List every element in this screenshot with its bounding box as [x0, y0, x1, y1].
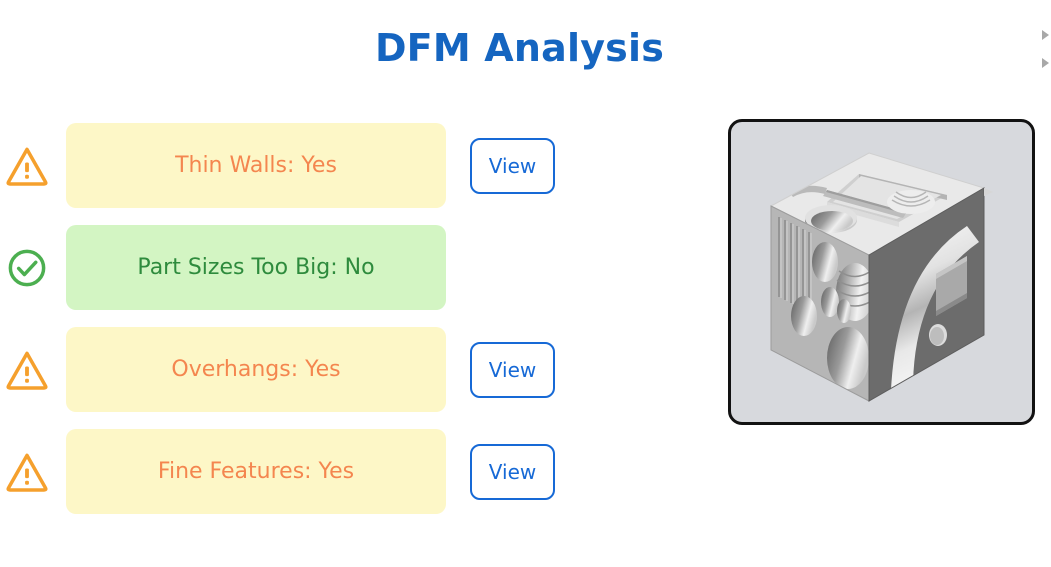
dfm-check-row: Overhangs: Yes View	[0, 327, 570, 412]
dfm-check-pill: Fine Features: Yes	[66, 429, 446, 514]
edge-stepper[interactable]	[1040, 26, 1051, 76]
dfm-check-row: Thin Walls: Yes View	[0, 123, 570, 208]
3d-part-model[interactable]	[731, 122, 1032, 422]
dfm-check-label: Fine Features: Yes	[158, 459, 354, 484]
warning-triangle-icon	[6, 145, 48, 187]
dfm-check-row: Fine Features: Yes View	[0, 429, 570, 514]
dfm-check-pill: Part Sizes Too Big: No	[66, 225, 446, 310]
caret-up-icon[interactable]	[1042, 30, 1049, 40]
check-circle-icon	[6, 247, 48, 289]
warning-triangle-icon	[6, 451, 48, 493]
page-title: DFM Analysis	[0, 26, 1039, 70]
3d-part-preview-panel[interactable]	[728, 119, 1035, 425]
dfm-check-label: Overhangs: Yes	[171, 357, 340, 382]
dfm-checks-list: Thin Walls: Yes View Part Sizes Too Big:…	[0, 123, 570, 531]
dfm-check-label: Thin Walls: Yes	[175, 153, 337, 178]
warning-triangle-icon	[6, 349, 48, 391]
view-button[interactable]: View	[470, 342, 555, 398]
caret-down-icon[interactable]	[1042, 58, 1049, 68]
view-button[interactable]: View	[470, 138, 555, 194]
dfm-check-label: Part Sizes Too Big: No	[137, 255, 374, 280]
dfm-check-row: Part Sizes Too Big: No	[0, 225, 570, 310]
dfm-check-pill: Thin Walls: Yes	[66, 123, 446, 208]
view-button[interactable]: View	[470, 444, 555, 500]
dfm-check-pill: Overhangs: Yes	[66, 327, 446, 412]
